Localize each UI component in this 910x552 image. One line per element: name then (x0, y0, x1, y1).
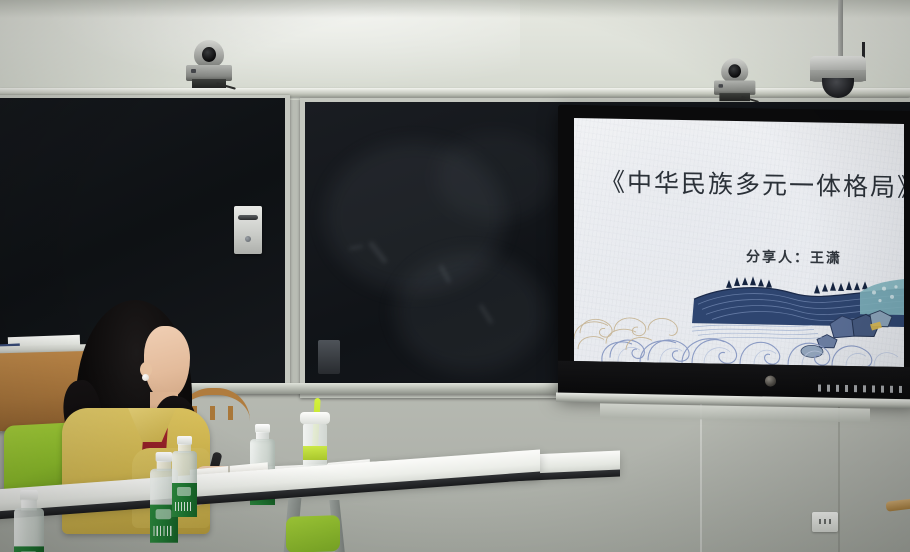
slide-presenter: 分享人：王潇 (746, 246, 842, 268)
panel-led-icon (245, 236, 251, 242)
camera-indicator-icon (719, 84, 724, 88)
camera-indicator-icon (191, 69, 196, 73)
smart-display[interactable]: 《中华民族多元一体格局》读 分享人：王潇 (558, 105, 910, 402)
classroom-photo-scene: 《中华民族多元一体格局》读 分享人：王潇 (0, 0, 910, 552)
bottle-label-mark (177, 487, 191, 496)
chinese-landscape-illustration (574, 269, 904, 367)
speaker-grille-icon (818, 384, 904, 393)
bottle-body (14, 508, 44, 552)
slide-title: 《中华民族多元一体格局》读 (600, 162, 904, 204)
chalk-smudge (435, 132, 555, 222)
camera-lens-icon (202, 47, 216, 62)
panel-slot-icon (238, 215, 258, 220)
tumbler-band (303, 446, 327, 460)
wall-seam (838, 400, 840, 552)
earring-icon (142, 374, 149, 381)
power-outlet[interactable] (812, 512, 838, 532)
wall-sensor-panel[interactable] (234, 206, 262, 254)
green-chair[interactable] (286, 515, 340, 552)
person-face (144, 326, 190, 398)
bottle-body (172, 451, 197, 513)
chair-post (228, 406, 233, 420)
tumbler-lid (300, 412, 330, 424)
slide-artwork (574, 269, 904, 367)
bottle-label (172, 483, 197, 517)
blackboard-device (318, 340, 340, 374)
display-sensor-icon (765, 375, 776, 386)
display-screen: 《中华民族多元一体格局》读 分享人：王潇 (574, 118, 904, 367)
bottle-label-mark (156, 509, 172, 519)
tumbler-cup (300, 412, 330, 472)
ceiling-shadow (0, 0, 910, 18)
camera-lens-icon (728, 64, 741, 78)
bottle-label (14, 546, 44, 552)
chalk-smudge (395, 252, 545, 372)
